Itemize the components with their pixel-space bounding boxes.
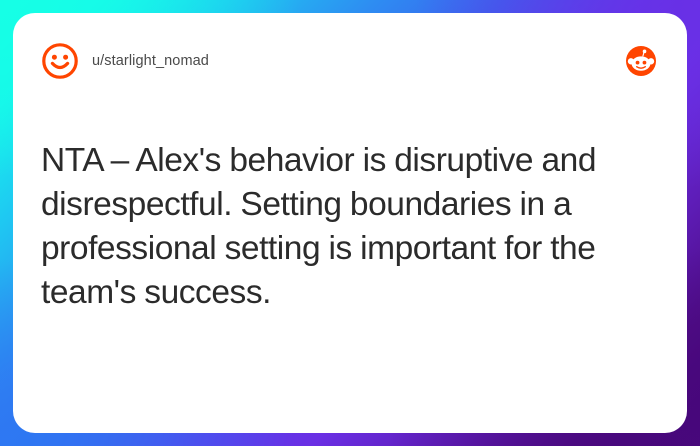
- screenshot-canvas: u/starlight_nomad NTA – Alex's behavior …: [0, 0, 700, 446]
- smiley-face-avatar-icon: [41, 42, 79, 80]
- reddit-alien-logo-icon[interactable]: [626, 46, 656, 76]
- comment-text: NTA – Alex's behavior is disruptive and …: [41, 139, 649, 315]
- username-label: u/starlight_nomad: [92, 53, 209, 69]
- card-body: NTA – Alex's behavior is disruptive and …: [41, 139, 659, 315]
- reddit-comment-card: u/starlight_nomad NTA – Alex's behavior …: [13, 13, 687, 433]
- avatar[interactable]: [41, 42, 79, 80]
- card-header: u/starlight_nomad: [41, 39, 659, 83]
